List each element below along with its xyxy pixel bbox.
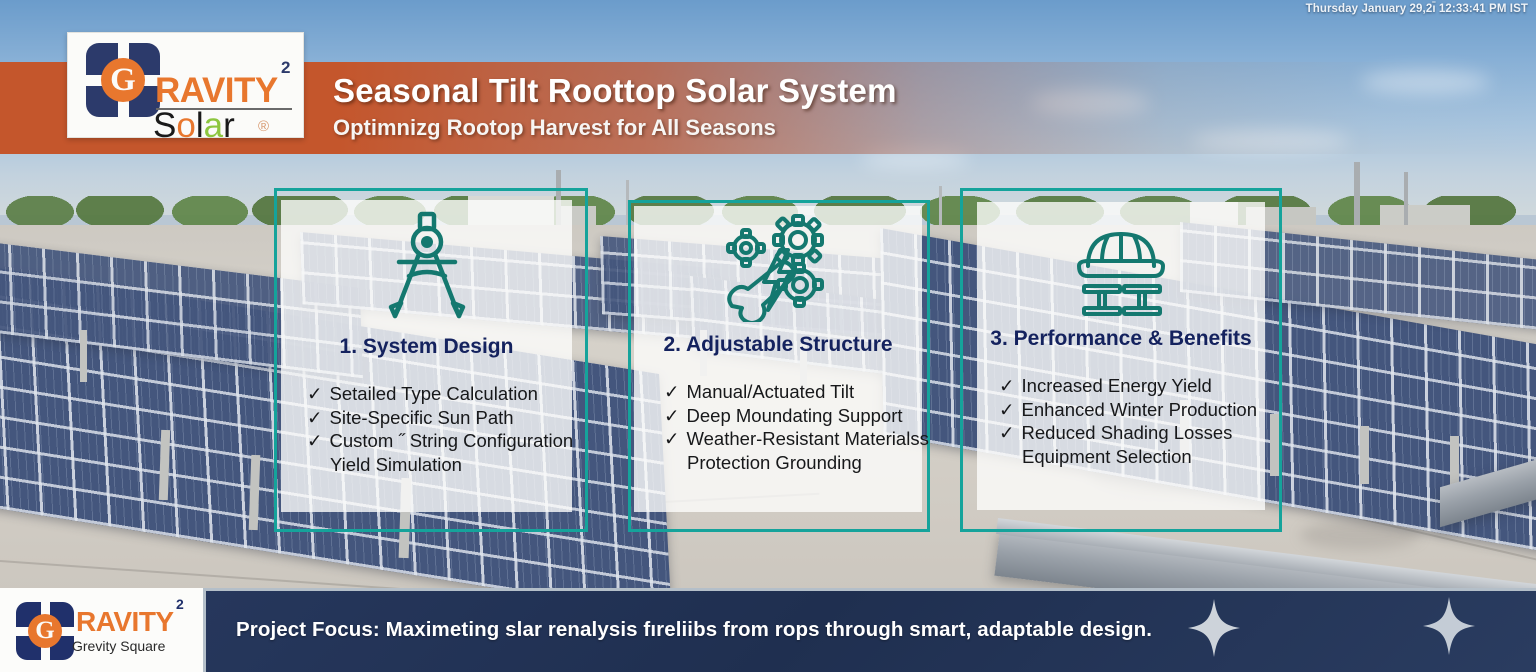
sparkle-icon [1186,597,1242,664]
list-item-label: Weather-Resistant Materialss [687,428,929,449]
check-icon: ✓ [664,405,680,426]
logo-subword: Solar [153,106,235,146]
card-3-panel[interactable]: 3. Performance & Benefits ✓Increased Ene… [977,202,1265,510]
check-icon: ✓ [307,407,323,428]
footer-logo-tagline: Grevity Square [72,638,165,654]
footer: Project Focus: Maximeting slar renalysis… [0,588,1536,672]
card-1-panel[interactable]: 1. System Design ✓Setailed Type Calculat… [281,200,572,512]
card-2-panel[interactable]: 2. Adjustable Structure ✓Manual/Actuated… [634,206,922,512]
array-support-leg [80,330,87,382]
check-icon: ✓ [999,375,1015,396]
list-item: ✓Setailed Type Calculation [307,382,573,406]
gears-wrench-bolt-icon [718,210,838,327]
list-item: ✓Weather-Resistant Materialss [664,427,929,451]
list-item-label: Yield Simulation [330,454,462,475]
logo-g-letter: G [28,614,62,648]
list-item: ✓Custom ˝ String Configuration [307,429,573,453]
card-2-title: 2. Adjustable Structure [663,333,892,357]
page-subtitle: Optimnizg Rootop Harvest for All Seasons [333,115,1233,141]
page-title: Seasonal Tilt Roottop Solar System [333,72,1233,110]
list-item-label: Setailed Type Calculation [330,383,538,404]
chimney-stack [1404,172,1408,228]
list-item-label: Manual/Actuated Tilt [687,381,855,402]
footer-logo-wordmark: RAVITY [76,606,174,638]
chimney-stack [1354,162,1360,228]
list-item: Yield Simulation [307,453,573,477]
antenna-mast [939,186,942,228]
list-item-label: Enhanced Winter Production [1022,399,1258,420]
list-item-label: Custom ˝ String Configuration [330,430,574,451]
list-item: ✓Deep Moundating Support [664,404,929,428]
footer-logo-superscript: 2 [176,596,184,612]
list-item-label: Equipment Selection [1022,446,1192,467]
datetime-label: Thursday January 29,2ı̄ 12:33:41 PM IST [1306,3,1528,15]
header-text-group: Seasonal Tilt Roottop Solar System Optim… [333,72,1233,141]
list-item-label: Deep Moundating Support [687,405,903,426]
list-item: ✓Increased Energy Yield [999,374,1257,398]
array-support-leg [1360,426,1369,484]
check-icon: ✓ [664,381,680,402]
logo-registered-mark: ® [258,118,269,135]
logo-wordmark: RAVITY [155,71,278,111]
check-icon: ✓ [307,430,323,451]
check-icon: ✓ [999,422,1015,443]
list-item: ✓Site-Specific Sun Path [307,406,573,430]
list-item: Protection Grounding [664,451,929,475]
card-3-title: 3. Performance & Benefits [990,327,1251,351]
card-3-list: ✓Increased Energy Yield ✓Enhanced Winter… [999,374,1257,468]
logo-superscript: 2 [281,58,290,78]
card-1-title: 1. System Design [340,335,514,359]
list-item: ✓Reduced Shading Losses [999,421,1257,445]
logo-g-letter: G [101,58,145,102]
check-icon: ✓ [999,399,1015,420]
list-item-label: Reduced Shading Losses [1022,422,1233,443]
sparkle-icon [1421,595,1477,662]
list-item: ✓Manual/Actuated Tilt [664,380,929,404]
list-item: Equipment Selection [999,445,1257,469]
footer-brand-logo: G RAVITY 2 Grevity Square [0,588,206,672]
hardhat-beams-icon [1066,206,1176,321]
list-item-label: Protection Grounding [687,452,862,473]
list-item-label: Site-Specific Sun Path [330,407,514,428]
brand-logo: G RAVITY 2 Solar ® [67,32,304,138]
list-item: ✓Enhanced Winter Production [999,398,1257,422]
card-2-list: ✓Manual/Actuated Tilt ✓Deep Moundating S… [664,380,929,474]
drafting-compass-icon [379,204,475,329]
footer-bar: Project Focus: Maximeting slar renalysis… [206,591,1536,672]
check-icon: ✓ [664,428,680,449]
footer-message: Project Focus: Maximeting slar renalysis… [236,618,1152,642]
card-1-list: ✓Setailed Type Calculation ✓Site-Specifi… [307,382,573,476]
list-item-label: Increased Energy Yield [1022,375,1212,396]
check-icon: ✓ [307,383,323,404]
